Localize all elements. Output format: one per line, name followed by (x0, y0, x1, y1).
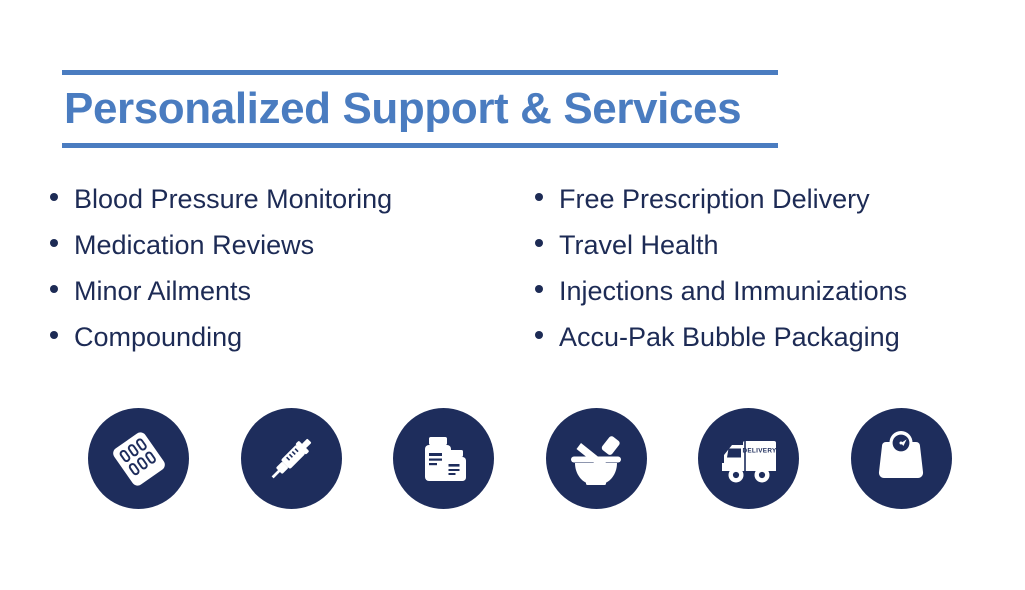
icon-badge-medicine-bottles (393, 408, 494, 509)
service-label: Injections and Immunizations (559, 268, 907, 314)
list-item: Blood Pressure Monitoring (50, 176, 535, 222)
weight-scale-icon (870, 428, 932, 490)
services-column-right: Free Prescription Delivery Travel Health… (535, 176, 1010, 360)
services-column-left: Blood Pressure Monitoring Medication Rev… (50, 176, 535, 360)
bullet-dot-icon (535, 285, 543, 293)
services-columns: Blood Pressure Monitoring Medication Rev… (50, 176, 1010, 360)
bullet-dot-icon (50, 285, 58, 293)
services-list-left: Blood Pressure Monitoring Medication Rev… (50, 176, 535, 360)
page-title: Personalized Support & Services (62, 75, 778, 143)
list-item: Free Prescription Delivery (535, 176, 1010, 222)
delivery-truck-icon: DELIVERY (715, 425, 783, 493)
icon-row: DELIVERY (88, 408, 952, 509)
service-label: Free Prescription Delivery (559, 176, 870, 222)
list-item: Compounding (50, 314, 535, 360)
bullet-dot-icon (50, 193, 58, 201)
syringe-icon (260, 428, 322, 490)
icon-badge-mortar-pestle (546, 408, 647, 509)
title-bottom-rule (62, 143, 778, 148)
service-label: Medication Reviews (74, 222, 314, 268)
bullet-dot-icon (535, 193, 543, 201)
service-label: Travel Health (559, 222, 719, 268)
icon-badge-blister-pack (88, 408, 189, 509)
medicine-bottles-icon (413, 428, 475, 490)
icon-badge-delivery-truck: DELIVERY (698, 408, 799, 509)
service-label: Minor Ailments (74, 268, 251, 314)
services-list-right: Free Prescription Delivery Travel Health… (535, 176, 1010, 360)
title-block: Personalized Support & Services (62, 70, 778, 148)
list-item: Travel Health (535, 222, 1010, 268)
service-label: Blood Pressure Monitoring (74, 176, 392, 222)
service-label: Accu-Pak Bubble Packaging (559, 314, 900, 360)
service-label: Compounding (74, 314, 242, 360)
list-item: Accu-Pak Bubble Packaging (535, 314, 1010, 360)
truck-delivery-label: DELIVERY (742, 447, 777, 454)
bullet-dot-icon (535, 331, 543, 339)
list-item: Medication Reviews (50, 222, 535, 268)
bullet-dot-icon (50, 331, 58, 339)
blister-pack-icon (108, 428, 170, 490)
list-item: Injections and Immunizations (535, 268, 1010, 314)
bullet-dot-icon (50, 239, 58, 247)
list-item: Minor Ailments (50, 268, 535, 314)
slide-canvas: Personalized Support & Services Blood Pr… (0, 0, 1025, 590)
mortar-and-pestle-icon (564, 427, 628, 491)
icon-badge-weight-scale (851, 408, 952, 509)
bullet-dot-icon (535, 239, 543, 247)
icon-badge-syringe (241, 408, 342, 509)
